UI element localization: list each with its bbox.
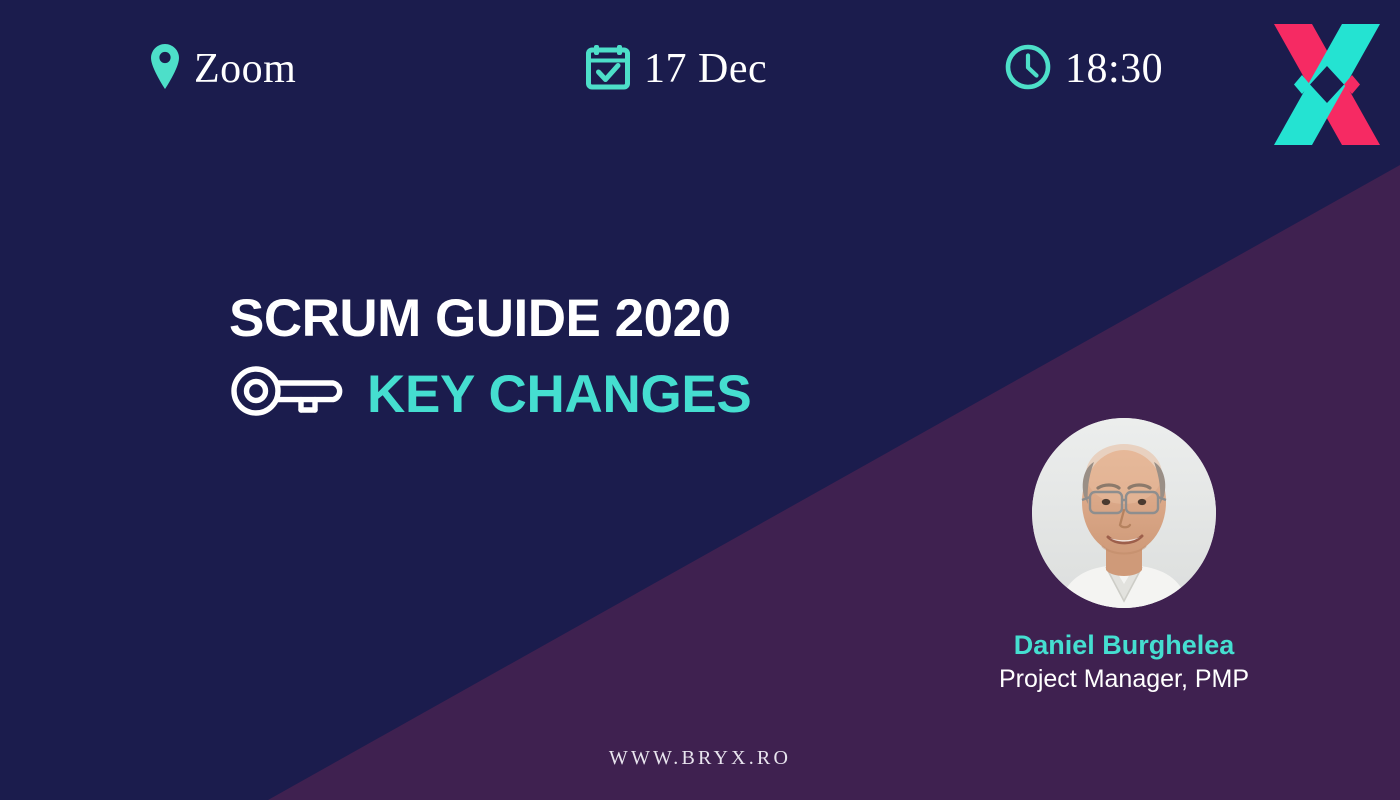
- header-time: 18:30: [1005, 38, 1163, 100]
- key-icon: [229, 366, 347, 423]
- speaker-name: Daniel Burghelea: [944, 630, 1304, 661]
- page-subtitle: KEY CHANGES: [367, 368, 751, 421]
- clock-icon: [1005, 44, 1051, 95]
- website-url: WWW.BRYX.RO: [609, 747, 791, 770]
- subtitle-row: KEY CHANGES: [229, 366, 751, 423]
- title-block: SCRUM GUIDE 2020 KEY CHANGES: [229, 292, 751, 423]
- location-pin-icon: [150, 43, 180, 96]
- header-location: Zoom: [150, 38, 296, 100]
- speaker-role: Project Manager, PMP: [944, 665, 1304, 694]
- poster-header: Zoom 17 Dec 18:30: [0, 38, 1400, 108]
- bryx-x-logo: [1272, 22, 1382, 147]
- header-location-label: Zoom: [194, 48, 296, 90]
- speaker-block: Daniel Burghelea Project Manager, PMP: [944, 418, 1304, 694]
- page-title: SCRUM GUIDE 2020: [229, 292, 751, 345]
- poster-footer: WWW.BRYX.RO: [0, 747, 1400, 770]
- header-time-label: 18:30: [1065, 48, 1163, 90]
- header-date: 17 Dec: [586, 38, 767, 100]
- calendar-check-icon: [586, 43, 630, 96]
- header-date-label: 17 Dec: [644, 48, 767, 90]
- avatar: [1032, 418, 1216, 608]
- event-poster: Zoom 17 Dec 18:30: [0, 0, 1400, 800]
